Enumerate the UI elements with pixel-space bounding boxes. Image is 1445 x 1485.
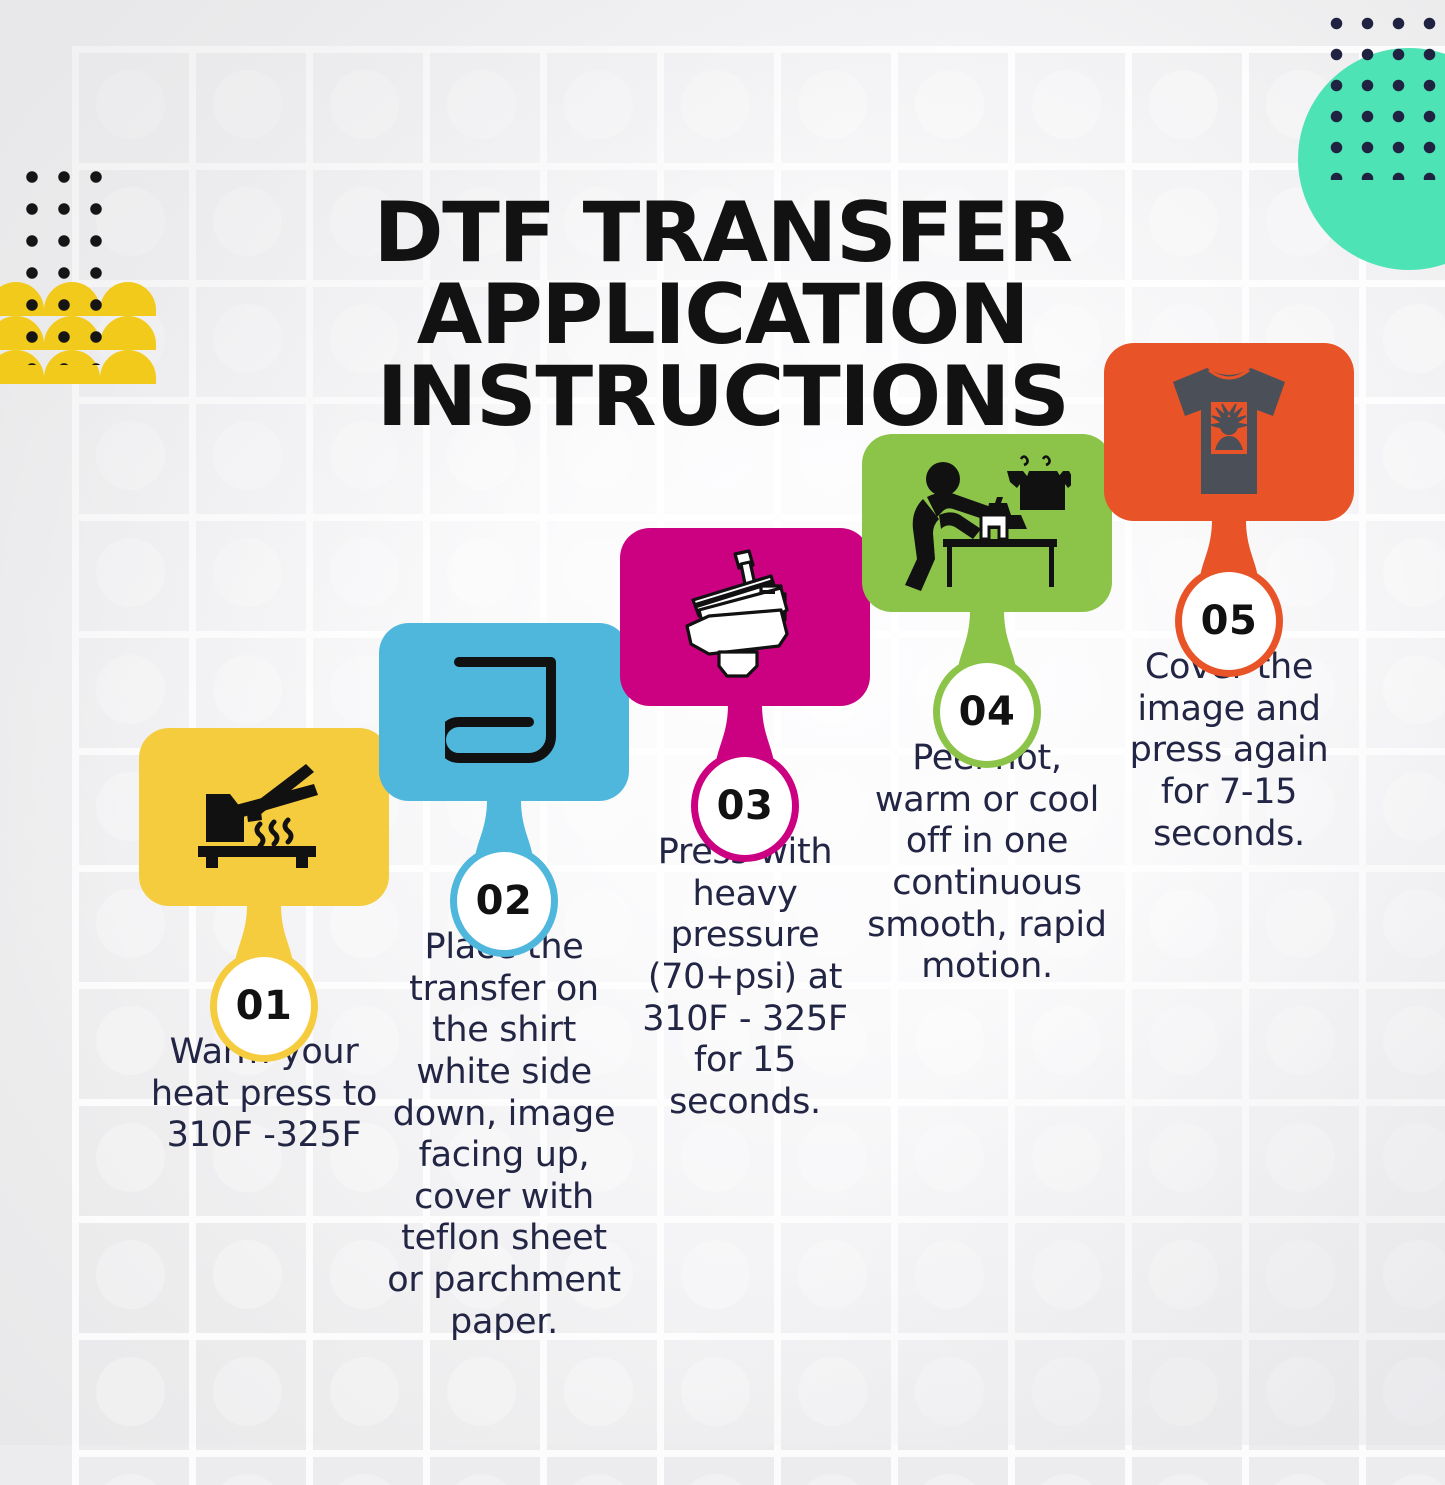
- step-card-04[interactable]: [862, 434, 1112, 612]
- step-item-03[interactable]: 03 Press with heavy pressure (70+psi) at…: [620, 528, 870, 1123]
- step-number-badge-02: 02: [450, 845, 558, 957]
- step-description-03: Press with heavy pressure (70+psi) at 31…: [620, 832, 870, 1123]
- page-title-line-1: DTF TRANSFER APPLICATION: [373, 184, 1071, 363]
- step-number-text: 05: [1201, 598, 1258, 644]
- page-title-line-2: INSTRUCTIONS: [108, 356, 1337, 438]
- step-description-02: Place the transfer on the shirt white si…: [379, 927, 629, 1343]
- step-item-02[interactable]: 02 Place the transfer on the shirt white…: [379, 623, 629, 1343]
- step-stem-02: 02: [379, 801, 629, 913]
- page-title: DTF TRANSFER APPLICATION INSTRUCTIONS: [0, 192, 1445, 438]
- step-description-05: Cover the image and press again for 7-15…: [1104, 647, 1354, 855]
- step-item-04[interactable]: 04 Peel hot, warm or cool off in one con…: [862, 434, 1112, 988]
- step-number-text: 04: [959, 689, 1016, 735]
- step-number-text: 01: [236, 983, 293, 1029]
- curling-transfer-sheet-icon: [445, 652, 563, 772]
- step-number-badge-04: 04: [933, 656, 1041, 768]
- step-card-02[interactable]: [379, 623, 629, 801]
- step-number-badge-01: 01: [210, 950, 318, 1062]
- heat-press-open-icon: [188, 762, 340, 872]
- step-stem-04: 04: [862, 612, 1112, 724]
- step-description-04: Peel hot, warm or cool off in one contin…: [862, 738, 1112, 988]
- person-peeling-transfer-icon: [903, 453, 1071, 593]
- step-number-badge-03: 03: [691, 750, 799, 862]
- step-item-01[interactable]: 01 Warm your heat press to 310F -325F: [139, 728, 389, 1157]
- step-number-badge-05: 05: [1175, 565, 1283, 677]
- step-stem-01: 01: [139, 906, 389, 1018]
- step-number-text: 02: [476, 878, 533, 924]
- step-card-03[interactable]: [620, 528, 870, 706]
- step-card-01[interactable]: [139, 728, 389, 906]
- step-stem-03: 03: [620, 706, 870, 818]
- step-number-text: 03: [717, 783, 774, 829]
- step-stem-05: 05: [1104, 521, 1354, 633]
- heat-press-machine-icon: [675, 548, 815, 686]
